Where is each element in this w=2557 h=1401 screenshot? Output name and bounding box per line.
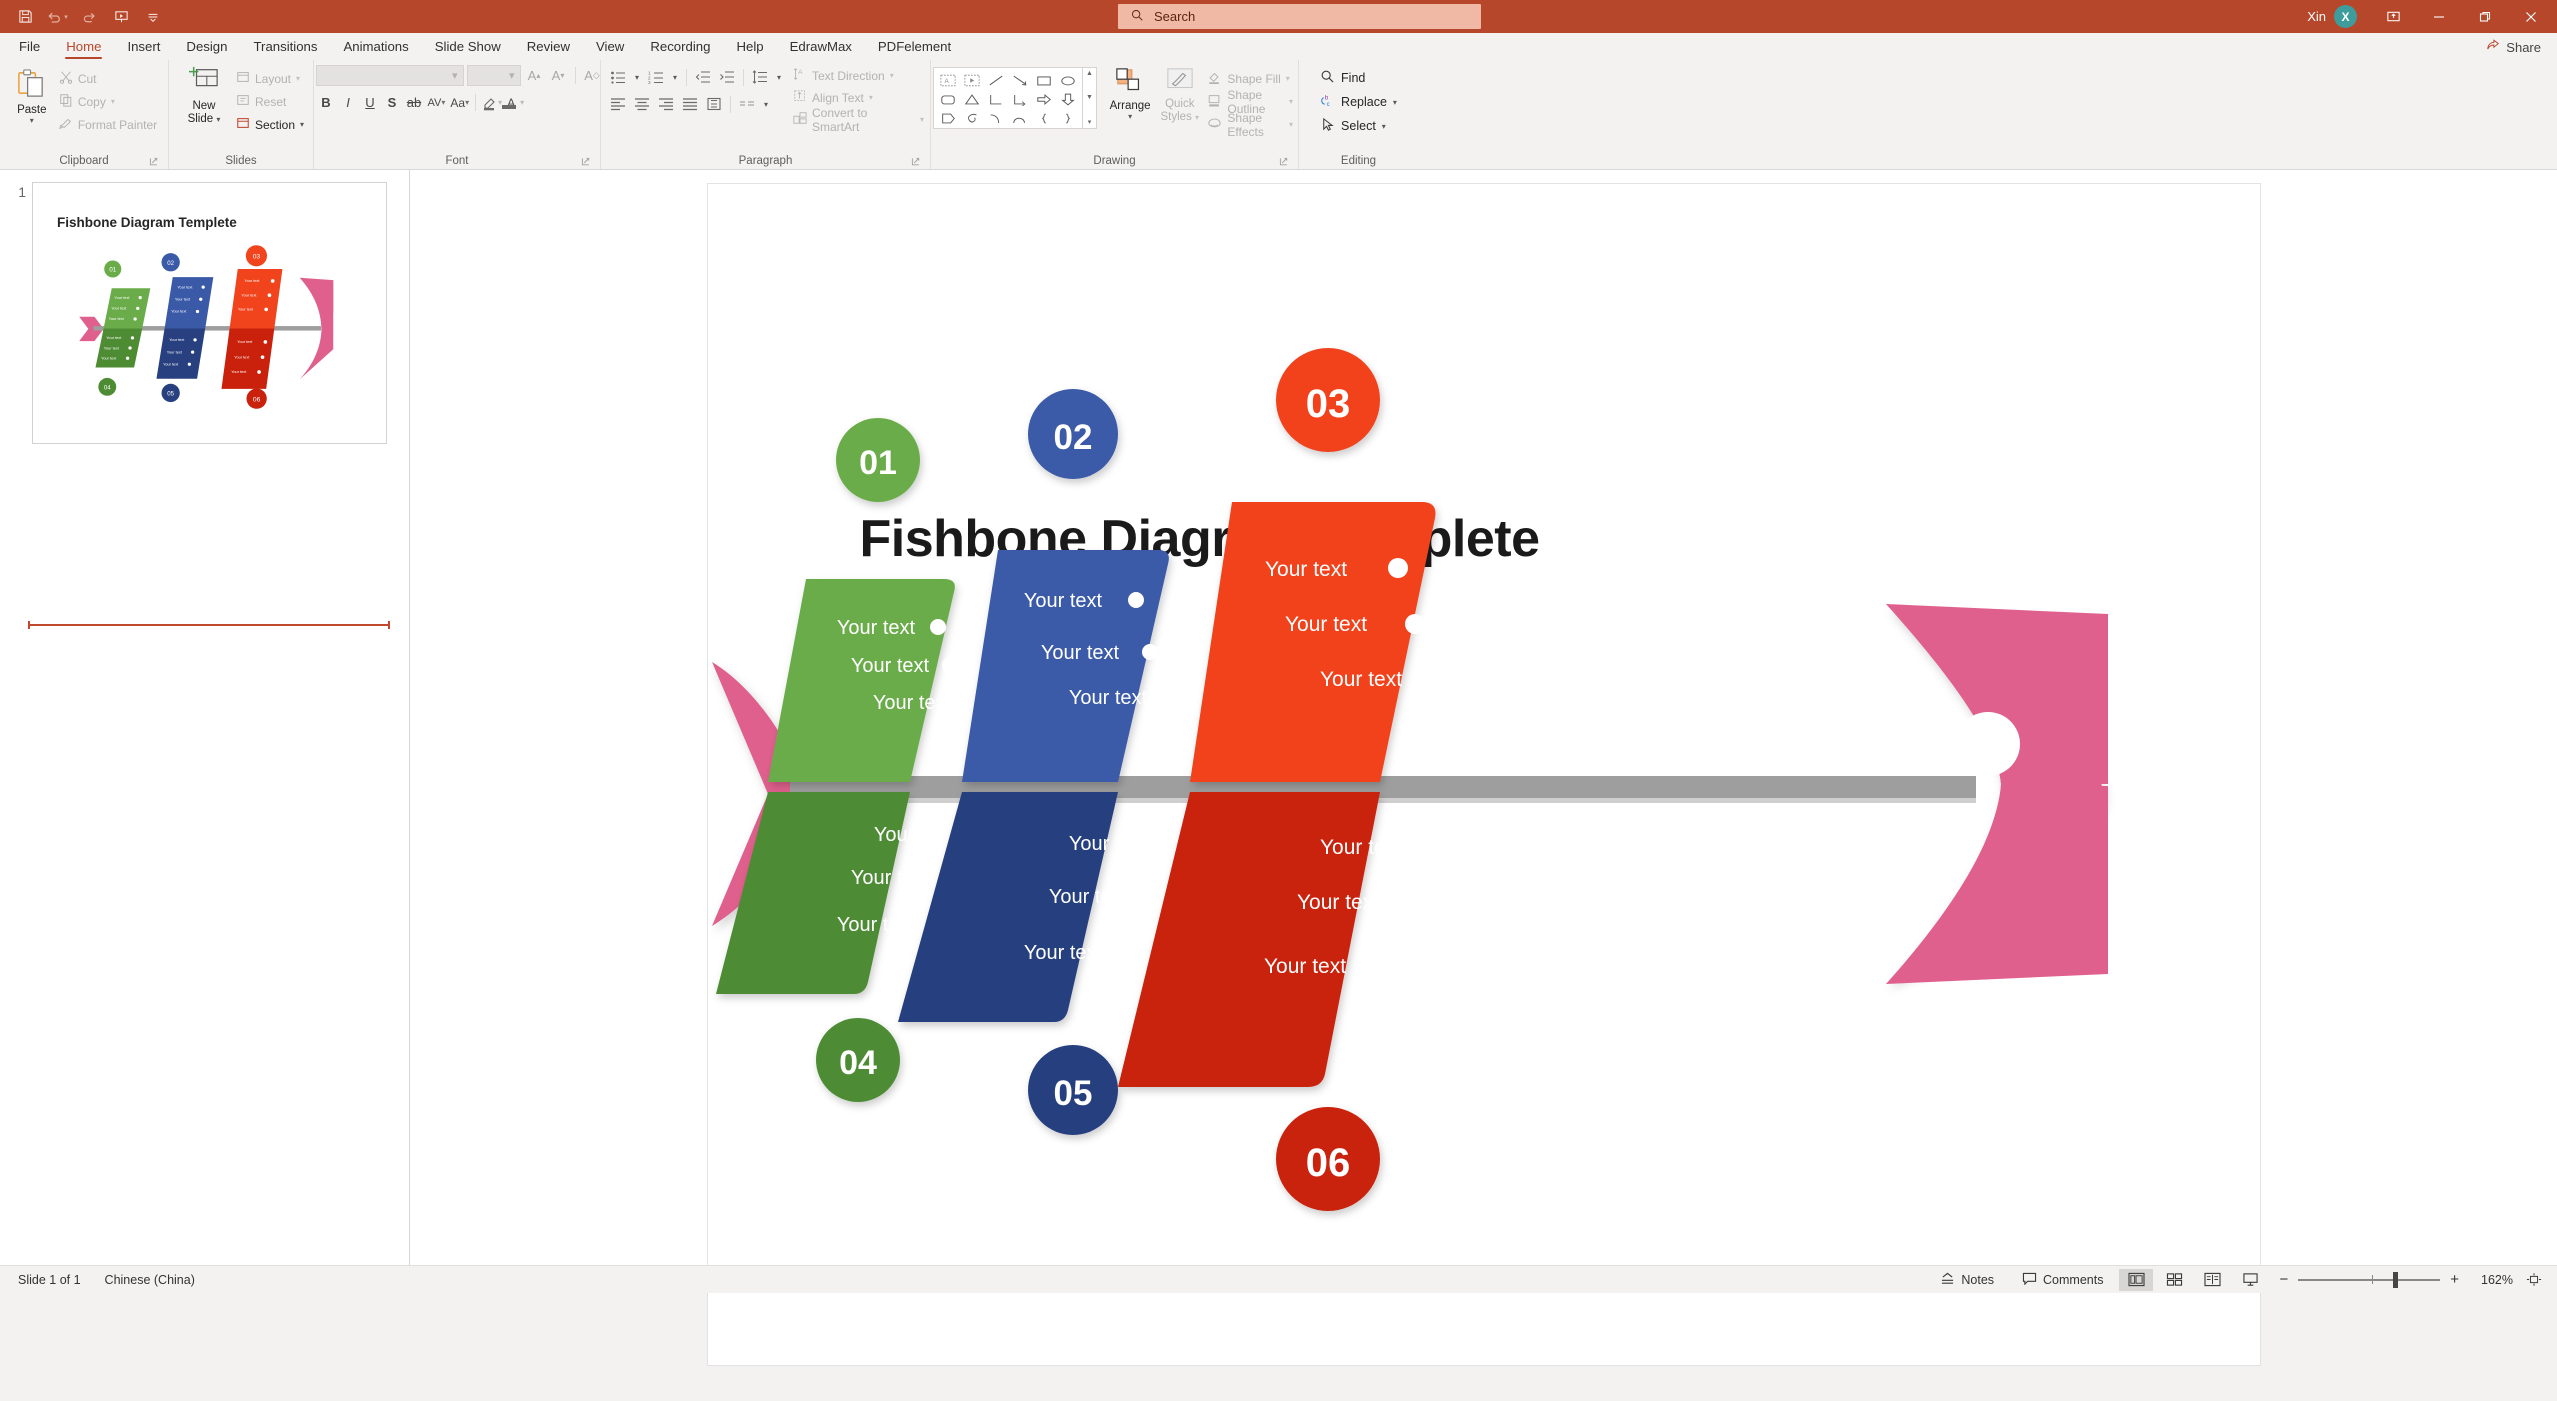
shape-ellipse-icon[interactable] xyxy=(1056,71,1080,90)
search-box[interactable]: Search xyxy=(1118,4,1481,29)
shape-fill-button[interactable]: Shape Fill▾ xyxy=(1204,69,1296,88)
share-button[interactable]: Share xyxy=(2478,37,2549,57)
align-left-icon[interactable] xyxy=(607,94,629,114)
shape-arc-icon[interactable] xyxy=(1008,109,1032,128)
slide-thumbnail-pane: 1 Fishbone Diagram Templete xyxy=(0,170,410,1265)
cut-button[interactable]: Cut xyxy=(56,69,160,88)
section-label: Section xyxy=(255,118,295,132)
branch-06-item-2: Your text xyxy=(1263,955,1345,978)
quick-access-toolbar: ▾ xyxy=(0,4,168,30)
branch-01-item-0: Your text xyxy=(836,617,915,639)
scroll-down-icon: ▼ xyxy=(1086,94,1093,101)
branch-02-dot-2 xyxy=(1158,688,1174,704)
tab-animations[interactable]: Animations xyxy=(331,36,422,60)
svg-text:Your text: Your text xyxy=(175,297,191,301)
slide-canvas[interactable]: Fishbone Diagram Templete xyxy=(708,184,2260,1365)
thumbnail-diagram: 01 02 03 04 05 06 Your textYour textYour… xyxy=(33,207,387,444)
shape-rectangle-icon[interactable] xyxy=(1032,71,1056,90)
branch-04-shape[interactable] xyxy=(716,792,910,994)
branch-03-shape[interactable] xyxy=(1190,502,1435,782)
cursor-icon xyxy=(1320,117,1335,135)
format-painter-label: Format Painter xyxy=(78,118,157,132)
quick-styles-button[interactable]: QuickStyles ▾ xyxy=(1159,67,1200,124)
decrease-indent-icon[interactable] xyxy=(692,67,714,87)
fishbone-diagram[interactable]: 01 Your text Your text Your text 04 Your… xyxy=(708,184,2260,1365)
svg-text:Your text: Your text xyxy=(163,363,179,367)
svg-text:Your text: Your text xyxy=(106,336,122,340)
normal-view-button[interactable] xyxy=(2119,1269,2153,1291)
ribbon-group-font: ▾ ▾ A▴ A▾ A◇ B I U S ab AV▾ Aa▾ ▾ xyxy=(313,60,600,169)
svg-text:Your text: Your text xyxy=(238,308,254,312)
shape-down-arrow-icon[interactable] xyxy=(1056,90,1080,109)
reset-icon xyxy=(236,93,250,110)
clipboard-dialog-launcher[interactable] xyxy=(149,157,160,168)
shape-pentagon-icon[interactable] xyxy=(936,109,960,128)
search-icon xyxy=(1130,8,1144,25)
branch-02-item-1: Your text xyxy=(1040,642,1119,664)
branch-01-number: 01 xyxy=(859,444,897,482)
ribbon-group-slides: NewSlide ▾ Layout ▾ Reset xyxy=(168,60,313,169)
format-painter-button[interactable]: Format Painter xyxy=(56,115,160,134)
bold-button[interactable]: B xyxy=(316,92,337,113)
chevron-down-icon[interactable]: ▾ xyxy=(631,67,643,87)
svg-text:Your text: Your text xyxy=(111,307,127,311)
branch-04-item-1: Your text xyxy=(850,867,929,889)
thumbnail-number: 1 xyxy=(10,182,26,444)
replace-icon: bc xyxy=(1320,93,1335,111)
shape-scribble-icon[interactable] xyxy=(960,109,984,128)
save-icon[interactable] xyxy=(10,4,40,30)
justify-icon[interactable] xyxy=(679,94,701,114)
branch-04-item-2: Your text xyxy=(836,914,915,936)
svg-text:Your text: Your text xyxy=(109,317,125,321)
text-direction-button[interactable]: A Text Direction▾ xyxy=(793,66,924,85)
italic-button[interactable]: I xyxy=(338,92,359,113)
text-direction-icon: A xyxy=(793,67,807,84)
new-slide-button[interactable]: NewSlide ▾ xyxy=(175,65,233,126)
align-text-icon xyxy=(793,89,807,106)
new-slide-label: NewSlide ▾ xyxy=(188,100,221,126)
shapes-gallery[interactable]: A xyxy=(933,67,1097,129)
branch-03-item-2: Your text xyxy=(1319,668,1401,691)
branch-05-dot-2 xyxy=(1128,943,1144,959)
share-label: Share xyxy=(2506,40,2541,55)
tab-review[interactable]: Review xyxy=(514,36,583,60)
section-button[interactable]: Section ▾ xyxy=(233,115,307,134)
branch-02-item-0: Your text xyxy=(1023,590,1102,612)
zoom-value[interactable]: 162% xyxy=(2471,1273,2513,1287)
shape-effects-icon xyxy=(1207,116,1222,133)
drawing-dialog-launcher[interactable] xyxy=(1279,157,1290,168)
branch-01-dot-0 xyxy=(930,619,946,635)
svg-text:c: c xyxy=(1327,101,1330,108)
chevron-down-icon[interactable]: ▾ xyxy=(773,67,785,87)
numbering-icon[interactable]: 123 xyxy=(645,67,667,87)
clipboard-group-label: Clipboard xyxy=(6,153,162,169)
workspace: 1 Fishbone Diagram Templete xyxy=(0,170,2557,1265)
tab-help[interactable]: Help xyxy=(723,36,776,60)
svg-text:04: 04 xyxy=(104,384,111,391)
layout-label: Layout xyxy=(255,72,291,86)
align-right-icon[interactable] xyxy=(655,94,677,114)
shape-triangle-icon[interactable] xyxy=(960,90,984,109)
svg-text:Your text: Your text xyxy=(114,296,130,300)
slide-thumbnail-1[interactable]: Fishbone Diagram Templete xyxy=(32,182,387,444)
svg-text:3: 3 xyxy=(648,80,651,84)
editing-group-label: Editing xyxy=(1305,153,1412,169)
chevron-down-icon[interactable]: ▾ xyxy=(111,97,115,106)
shape-rounded-rect-icon[interactable] xyxy=(936,90,960,109)
ribbon-display-options-icon[interactable] xyxy=(2371,0,2415,33)
language-indicator[interactable]: Chinese (China) xyxy=(93,1269,207,1291)
text-shadow-button[interactable]: S xyxy=(382,92,403,113)
change-case-button[interactable]: Aa▾ xyxy=(448,92,471,113)
shape-corner-icon[interactable] xyxy=(984,90,1008,109)
branch-03-number: 03 xyxy=(1305,382,1350,426)
branch-06-dot-0 xyxy=(1422,836,1442,856)
title-bar: ▾ ppt-fishbone-diagram-lab.pptx - PowerP… xyxy=(0,0,2557,33)
paintbrush-icon xyxy=(59,116,73,133)
shape-video-icon[interactable] xyxy=(960,71,984,90)
ribbon-group-clipboard: Paste ▾ Cut Copy ▾ xyxy=(0,60,168,169)
ribbon: Paste ▾ Cut Copy ▾ xyxy=(0,60,2557,170)
branch-03-dot-1 xyxy=(1405,614,1425,634)
bullets-icon[interactable] xyxy=(607,67,629,87)
increase-indent-icon[interactable] xyxy=(716,67,738,87)
svg-text:Your text: Your text xyxy=(177,285,193,289)
svg-text:03: 03 xyxy=(253,254,261,261)
ribbon-group-paragraph: ▾ 123 ▾ ▾ xyxy=(600,60,930,169)
svg-text:Your text: Your text xyxy=(169,338,185,342)
branch-04-number: 04 xyxy=(839,1044,877,1082)
copy-icon xyxy=(59,93,73,110)
branch-03-item-0: Your text xyxy=(1264,558,1346,581)
drawing-group-label: Drawing xyxy=(937,153,1292,169)
svg-text:Your text: Your text xyxy=(171,310,187,314)
zoom-in-button[interactable]: + xyxy=(2450,1271,2459,1288)
svg-text:Your text: Your text xyxy=(241,293,257,297)
branch-06-item-1: Your text xyxy=(1296,891,1378,914)
ribbon-group-drawing: A xyxy=(930,60,1298,169)
quick-styles-icon xyxy=(1165,67,1195,98)
paste-label: Paste xyxy=(17,104,46,116)
thumbnail-selection-indicator xyxy=(28,624,390,626)
arrange-label: Arrange xyxy=(1110,100,1151,112)
replace-button[interactable]: bc Replace▾ xyxy=(1320,92,1397,112)
new-slide-icon xyxy=(188,65,220,98)
character-spacing-button[interactable]: AV▾ xyxy=(426,92,448,113)
fit-slide-to-window-button[interactable] xyxy=(2517,1269,2551,1291)
branch-01-item-1: Your text xyxy=(850,655,929,677)
svg-text:Your text: Your text xyxy=(231,370,247,374)
layout-button[interactable]: Layout ▾ xyxy=(233,69,307,88)
branch-02-number: 02 xyxy=(1053,418,1092,457)
restore-button[interactable] xyxy=(2463,0,2507,33)
undo-icon[interactable]: ▾ xyxy=(42,4,72,30)
shape-connector-icon[interactable] xyxy=(1008,90,1032,109)
branch-02-dot-0 xyxy=(1128,592,1144,608)
svg-text:01: 01 xyxy=(109,266,116,273)
customize-qat-icon[interactable] xyxy=(138,4,168,30)
font-group-label: Font xyxy=(320,153,594,169)
text-columns-icon[interactable] xyxy=(736,94,758,114)
layout-icon xyxy=(236,70,250,87)
shapes-gallery-scrollbar[interactable]: ▲ ▼ ▾ xyxy=(1083,67,1097,129)
zoom-thumb[interactable] xyxy=(2393,1272,2398,1288)
strikethrough-button[interactable]: ab xyxy=(404,92,425,113)
chevron-down-icon[interactable]: ▾ xyxy=(669,67,681,87)
shape-curve-icon[interactable] xyxy=(984,109,1008,128)
shape-textbox-icon[interactable]: A xyxy=(936,71,960,90)
tab-pdfelement[interactable]: PDFelement xyxy=(865,36,964,60)
zoom-slider[interactable]: − + xyxy=(2271,1271,2467,1288)
start-presentation-icon[interactable] xyxy=(106,4,136,30)
svg-text:06: 06 xyxy=(253,396,261,403)
slide-indicator[interactable]: Slide 1 of 1 xyxy=(6,1269,93,1291)
comments-button[interactable]: Comments xyxy=(2010,1269,2115,1291)
decrease-font-size-icon[interactable]: A▾ xyxy=(548,65,569,86)
status-bar: Slide 1 of 1 Chinese (China) Notes Comme… xyxy=(0,1265,2557,1293)
branch-01-dot-1 xyxy=(942,657,958,673)
slide-show-view-button[interactable] xyxy=(2233,1269,2267,1291)
branch-06-dot-2 xyxy=(1388,954,1408,974)
shape-left-brace-icon[interactable] xyxy=(1032,109,1056,128)
font-size-combo[interactable]: ▾ xyxy=(467,65,521,86)
tab-insert[interactable]: Insert xyxy=(114,36,173,60)
reset-label: Reset xyxy=(255,95,286,109)
branch-06-item-0: Your text xyxy=(1319,836,1401,859)
branch-05-dot-0 xyxy=(1158,834,1174,850)
branch-05-dot-1 xyxy=(1143,887,1159,903)
status-bar-right: Notes Comments − + 162% xyxy=(1928,1269,2551,1291)
increase-font-size-icon[interactable]: A▴ xyxy=(524,65,545,86)
reset-button[interactable]: Reset xyxy=(233,92,307,111)
shape-effects-button[interactable]: Shape Effects▾ xyxy=(1204,115,1296,134)
underline-button[interactable]: U xyxy=(360,92,381,113)
branch-05-item-2: Your text xyxy=(1023,942,1102,964)
text-highlight-color-icon[interactable]: ▾ xyxy=(480,92,504,113)
shape-right-brace-icon[interactable] xyxy=(1056,109,1080,128)
svg-text:Your text: Your text xyxy=(104,346,120,350)
svg-text:A: A xyxy=(944,78,949,85)
paste-icon xyxy=(15,67,48,103)
shape-line-icon[interactable] xyxy=(984,71,1008,90)
svg-text:A: A xyxy=(798,69,803,76)
account-name[interactable]: Xin xyxy=(2307,9,2326,24)
chevron-down-icon[interactable]: ▾ xyxy=(30,116,34,125)
smartart-icon xyxy=(793,111,807,128)
branch-04-item-0: Your text xyxy=(873,824,952,846)
font-name-combo[interactable]: ▾ xyxy=(316,65,464,86)
zoom-track[interactable] xyxy=(2298,1279,2440,1281)
branch-06-number: 06 xyxy=(1305,1141,1350,1185)
title-bar-right: Xin X xyxy=(2307,0,2557,33)
svg-text:05: 05 xyxy=(167,391,174,398)
svg-text:02: 02 xyxy=(167,260,174,267)
branch-02-dot-1 xyxy=(1142,644,1158,660)
tab-view[interactable]: View xyxy=(583,36,637,60)
select-button[interactable]: Select▾ xyxy=(1320,116,1397,136)
tab-file[interactable]: File xyxy=(6,36,53,60)
redo-icon[interactable] xyxy=(74,4,104,30)
cut-label: Cut xyxy=(78,72,97,86)
convert-to-smartart-button[interactable]: Convert to SmartArt▾ xyxy=(793,110,924,129)
tab-recording[interactable]: Recording xyxy=(637,36,723,60)
tab-edrawmax[interactable]: EdrawMax xyxy=(777,36,865,60)
paragraph-group-label: Paragraph xyxy=(607,153,924,169)
columns-icon[interactable] xyxy=(703,94,725,114)
svg-text:Your text: Your text xyxy=(167,350,183,354)
branch-01-shape[interactable] xyxy=(768,579,955,782)
copy-label: Copy xyxy=(78,95,106,109)
align-text-button[interactable]: Align Text▾ xyxy=(793,88,924,107)
find-button[interactable]: Find xyxy=(1320,68,1397,88)
branch-05-number: 05 xyxy=(1053,1074,1092,1113)
shape-arrow-icon[interactable] xyxy=(1008,71,1032,90)
align-center-icon[interactable] xyxy=(631,94,653,114)
copy-button[interactable]: Copy ▾ xyxy=(56,92,160,111)
branch-03-dot-0 xyxy=(1388,558,1408,578)
branch-03-item-1: Your text xyxy=(1284,613,1366,636)
branch-03-dot-2 xyxy=(1422,668,1442,688)
scissors-icon xyxy=(59,70,73,87)
paste-button[interactable]: Paste ▾ xyxy=(8,65,56,125)
close-button[interactable] xyxy=(2509,0,2553,33)
zoom-100-tick xyxy=(2372,1275,2373,1284)
ribbon-group-editing: Find bc Replace▾ Select▾ Editing xyxy=(1298,60,1418,169)
svg-text:Your text: Your text xyxy=(234,355,250,359)
branch-02-shape[interactable] xyxy=(962,550,1169,782)
arrange-button[interactable]: Arrange ▾ xyxy=(1107,67,1153,121)
slide-editing-area[interactable]: Fishbone Diagram Templete xyxy=(410,170,2557,1265)
font-dialog-launcher[interactable] xyxy=(581,157,592,168)
reading-view-button[interactable] xyxy=(2195,1269,2229,1291)
arrange-icon xyxy=(1114,67,1146,100)
zoom-out-button[interactable]: − xyxy=(2279,1271,2288,1288)
share-icon xyxy=(2486,39,2500,55)
slides-group-label: Slides xyxy=(175,153,307,169)
branch-05-item-1: Your text xyxy=(1048,886,1127,908)
notes-button[interactable]: Notes xyxy=(1928,1269,2006,1291)
tab-transitions[interactable]: Transitions xyxy=(240,36,330,60)
font-color-icon[interactable]: A ▾ xyxy=(505,92,526,113)
branch-02-item-2: Your text xyxy=(1068,687,1147,709)
branch-01-item-2: Your text xyxy=(872,692,951,714)
branch-06-dot-1 xyxy=(1406,891,1426,911)
shape-fill-icon xyxy=(1207,70,1222,87)
ribbon-tabs: File Home Insert Design Transitions Anim… xyxy=(0,33,2557,60)
section-icon xyxy=(236,116,250,133)
quick-styles-label: QuickStyles ▾ xyxy=(1161,98,1200,124)
tab-design[interactable]: Design xyxy=(173,36,240,60)
tab-home[interactable]: Home xyxy=(53,36,114,60)
scroll-up-icon: ▲ xyxy=(1086,70,1093,77)
minimize-button[interactable] xyxy=(2417,0,2461,33)
avatar[interactable]: X xyxy=(2334,5,2357,28)
notes-icon xyxy=(1940,1272,1955,1288)
gallery-more-icon: ▾ xyxy=(1088,118,1092,126)
shape-outline-icon xyxy=(1207,93,1222,110)
chevron-down-icon[interactable]: ▾ xyxy=(760,94,772,114)
branch-05-item-0: Your text xyxy=(1068,833,1147,855)
tab-slide-show[interactable]: Slide Show xyxy=(422,36,514,60)
line-spacing-icon[interactable] xyxy=(749,67,771,87)
shape-right-arrow-icon[interactable] xyxy=(1032,90,1056,109)
paragraph-dialog-launcher[interactable] xyxy=(911,157,922,168)
svg-text:Your text: Your text xyxy=(101,356,117,360)
branch-01-dot-2 xyxy=(954,693,970,709)
slide-sorter-view-button[interactable] xyxy=(2157,1269,2191,1291)
svg-text:Your text: Your text xyxy=(237,340,253,344)
svg-text:Your text: Your text xyxy=(244,279,260,283)
comment-icon xyxy=(2022,1272,2037,1288)
fish-eye xyxy=(1956,712,2020,776)
search-icon xyxy=(1320,69,1335,87)
shape-outline-button[interactable]: Shape Outline▾ xyxy=(1204,92,1296,111)
search-placeholder: Search xyxy=(1154,9,1195,24)
